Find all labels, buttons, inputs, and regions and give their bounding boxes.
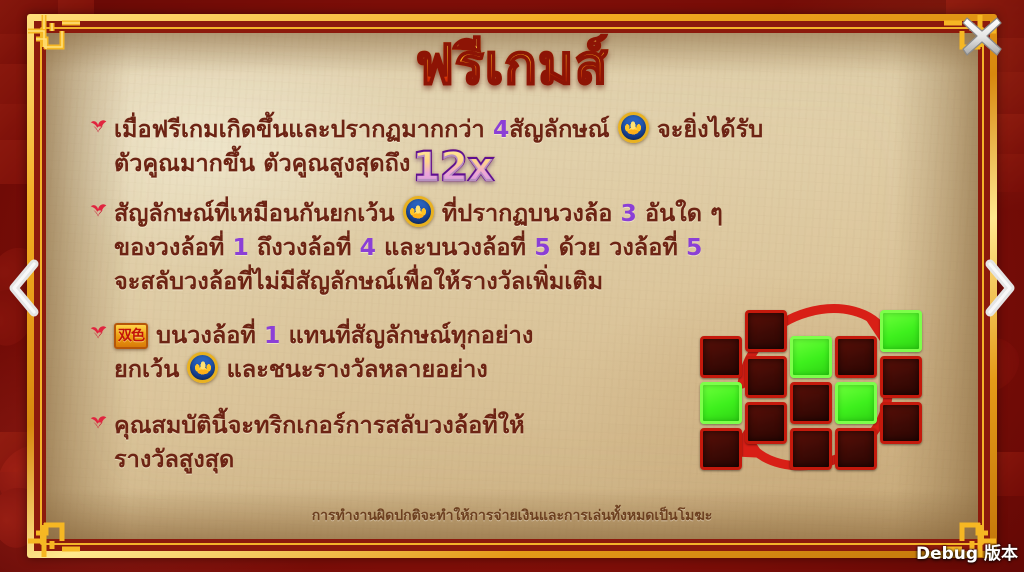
reel-cell-3-1	[790, 336, 832, 378]
rule-item-trigger: คุณสมบัตินี้จะทริกเกอร์การสลับวงล้อที่ให…	[88, 408, 728, 476]
butterfly-bullet-icon-4	[88, 412, 114, 438]
debug-version-label: Debug 版本	[916, 539, 1018, 564]
chevron-right-icon	[978, 256, 1020, 320]
lotus-scatter-icon-3	[187, 352, 218, 383]
reel-cell-1-1	[700, 336, 742, 378]
footnote-disclaimer: การทำงานผิดปกติจะทำให้การจ่ายเงินและการเ…	[0, 505, 1024, 527]
rule-item-multiplier: เมื่อฟรีเกมเกิดขึ้นและปรากฏมากกว่า 4สัญล…	[88, 112, 888, 187]
wild-tile-icon: 双色	[114, 323, 148, 349]
ornate-corner-icon-bottom-left	[24, 497, 88, 561]
rule-item-scatter-reels: สัญลักษณ์ที่เหมือนกันยกเว้น ที่ปรากฏบนวง…	[88, 196, 888, 298]
page-title: ฟรีเกมส์	[0, 38, 1024, 92]
close-icon	[963, 18, 1001, 55]
reel-cell-4-3	[835, 428, 877, 470]
reel-cell-2-2	[745, 356, 787, 398]
rule-text-wild: 双色 บนวงล้อที่ 1 แทนที่สัญลักษณ์ทุกอย่าง …	[114, 318, 533, 386]
lotus-scatter-icon-2	[403, 196, 434, 227]
butterfly-bullet-icon	[88, 116, 114, 142]
chevron-left-icon	[4, 256, 46, 320]
reel-cell-3-3	[790, 428, 832, 470]
rule-item-wild: 双色 บนวงล้อที่ 1 แทนที่สัญลักษณ์ทุกอย่าง …	[88, 318, 728, 386]
ornate-corner-icon-top-left	[24, 11, 88, 75]
butterfly-bullet-icon-3	[88, 322, 114, 348]
nav-next-button[interactable]	[978, 256, 1020, 320]
close-button[interactable]	[956, 10, 1008, 62]
wild-glyph: 双色	[116, 325, 146, 347]
rule-text-multiplier: เมื่อฟรีเกมเกิดขึ้นและปรากฏมากกว่า 4สัญล…	[114, 112, 763, 187]
reel-cell-2-1	[745, 310, 787, 352]
game-paytable-screen: ฟรีเกมส์ เมื่อฟรีเกมเกิดขึ้นและปรากฏมากก…	[0, 0, 1024, 572]
reel-cell-1-3	[700, 428, 742, 470]
reel-cell-5-1	[880, 310, 922, 352]
nav-prev-button[interactable]	[4, 256, 46, 320]
butterfly-bullet-icon-2	[88, 200, 114, 226]
reel-swap-diagram	[700, 318, 930, 478]
multiplier-badge: 12x	[412, 147, 493, 187]
reel-cell-4-2	[835, 382, 877, 424]
reel-cell-2-3	[745, 402, 787, 444]
reel-cell-3-2	[790, 382, 832, 424]
reel-cell-4-1	[835, 336, 877, 378]
rule-text-scatter-reels: สัญลักษณ์ที่เหมือนกันยกเว้น ที่ปรากฏบนวง…	[114, 196, 723, 298]
reel-cell-5-2	[880, 356, 922, 398]
rule-text-trigger: คุณสมบัตินี้จะทริกเกอร์การสลับวงล้อที่ให…	[114, 408, 525, 476]
reel-cell-5-3	[880, 402, 922, 444]
lotus-scatter-icon	[618, 112, 649, 143]
reel-cell-1-2	[700, 382, 742, 424]
